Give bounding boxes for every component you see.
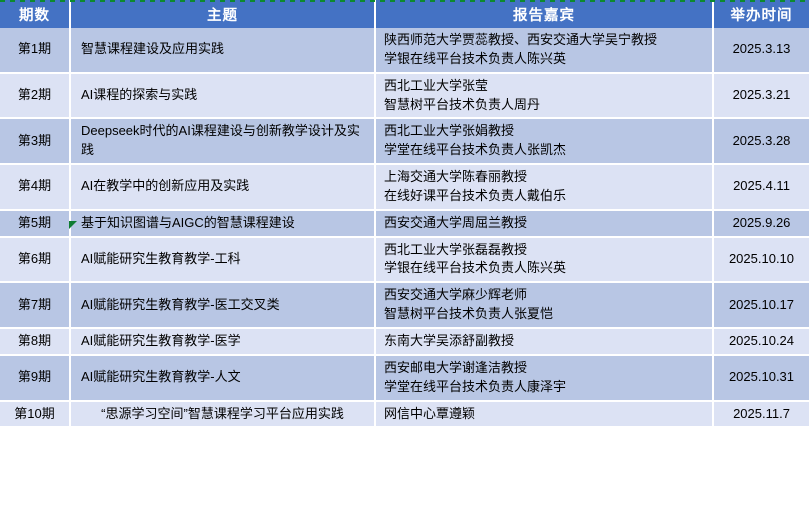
cell-issue[interactable]: 第2期 — [0, 73, 70, 119]
table-row[interactable]: 第3期Deepseek时代的AI课程建设与创新教学设计及实践西北工业大学张娟教授… — [0, 118, 809, 164]
table-row[interactable]: 第8期AI赋能研究生教育教学-医学东南大学吴添舒副教授2025.10.24 — [0, 328, 809, 355]
cell-guest-line: 西安交通大学周屈兰教授 — [384, 214, 706, 233]
cell-topic[interactable]: “思源学习空间”智慧课程学习平台应用实践 — [70, 401, 375, 428]
cell-guest-line: 在线好课平台技术负责人戴伯乐 — [384, 187, 706, 206]
cell-guest-line: 网信中心覃遵颖 — [384, 405, 706, 424]
cell-guest-line: 智慧树平台技术负责人周丹 — [384, 96, 706, 115]
cell-date[interactable]: 2025.3.13 — [713, 28, 809, 73]
table-row[interactable]: 第6期AI赋能研究生教育教学-工科西北工业大学张磊磊教授学银在线平台技术负责人陈… — [0, 237, 809, 283]
cell-date[interactable]: 2025.10.24 — [713, 328, 809, 355]
cell-guest-line: 西安邮电大学谢逢洁教授 — [384, 359, 706, 378]
cell-issue[interactable]: 第3期 — [0, 118, 70, 164]
table-row[interactable]: 第5期基于知识图谱与AIGC的智慧课程建设西安交通大学周屈兰教授2025.9.2… — [0, 210, 809, 237]
table-header: 期数 主题 报告嘉宾 举办时间 — [0, 0, 809, 28]
cell-issue[interactable]: 第1期 — [0, 28, 70, 73]
spreadsheet-canvas: 期数 主题 报告嘉宾 举办时间 第1期智慧课程建设及应用实践陕西师范大学贾蕊教授… — [0, 0, 809, 509]
seminar-schedule-table: 期数 主题 报告嘉宾 举办时间 第1期智慧课程建设及应用实践陕西师范大学贾蕊教授… — [0, 0, 809, 428]
cell-date[interactable]: 2025.3.21 — [713, 73, 809, 119]
table-row[interactable]: 第9期AI赋能研究生教育教学-人文西安邮电大学谢逢洁教授学堂在线平台技术负责人康… — [0, 355, 809, 401]
cell-topic[interactable]: AI课程的探索与实践 — [70, 73, 375, 119]
cell-topic[interactable]: AI赋能研究生教育教学-工科 — [70, 237, 375, 283]
cell-date[interactable]: 2025.3.28 — [713, 118, 809, 164]
cell-guest-line: 西安交通大学麻少辉老师 — [384, 286, 706, 305]
cell-guest[interactable]: 上海交通大学陈春丽教授在线好课平台技术负责人戴伯乐 — [375, 164, 713, 210]
cell-topic[interactable]: AI在教学中的创新应用及实践 — [70, 164, 375, 210]
cell-date[interactable]: 2025.9.26 — [713, 210, 809, 237]
cell-guest[interactable]: 西安交通大学麻少辉老师智慧树平台技术负责人张夏恺 — [375, 282, 713, 328]
cell-topic[interactable]: 智慧课程建设及应用实践 — [70, 28, 375, 73]
cell-topic[interactable]: AI赋能研究生教育教学-医工交叉类 — [70, 282, 375, 328]
column-header-issue[interactable]: 期数 — [0, 0, 70, 28]
cell-topic[interactable]: AI赋能研究生教育教学-医学 — [70, 328, 375, 355]
cell-guest[interactable]: 西北工业大学张莹智慧树平台技术负责人周丹 — [375, 73, 713, 119]
cell-date[interactable]: 2025.10.10 — [713, 237, 809, 283]
cell-issue[interactable]: 第5期 — [0, 210, 70, 237]
cell-guest-line: 智慧树平台技术负责人张夏恺 — [384, 305, 706, 324]
cell-date[interactable]: 2025.10.31 — [713, 355, 809, 401]
column-header-date[interactable]: 举办时间 — [713, 0, 809, 28]
table-row[interactable]: 第2期AI课程的探索与实践西北工业大学张莹智慧树平台技术负责人周丹2025.3.… — [0, 73, 809, 119]
cell-guest[interactable]: 西安交通大学周屈兰教授 — [375, 210, 713, 237]
cell-guest-line: 西北工业大学张莹 — [384, 77, 706, 96]
cell-guest-line: 西北工业大学张娟教授 — [384, 122, 706, 141]
cell-issue[interactable]: 第6期 — [0, 237, 70, 283]
cell-guest-line: 学银在线平台技术负责人陈兴英 — [384, 50, 706, 69]
column-header-guest[interactable]: 报告嘉宾 — [375, 0, 713, 28]
table-header-row: 期数 主题 报告嘉宾 举办时间 — [0, 0, 809, 28]
cell-date[interactable]: 2025.11.7 — [713, 401, 809, 428]
cell-guest[interactable]: 陕西师范大学贾蕊教授、西安交通大学吴宁教授学银在线平台技术负责人陈兴英 — [375, 28, 713, 73]
table-row[interactable]: 第7期AI赋能研究生教育教学-医工交叉类西安交通大学麻少辉老师智慧树平台技术负责… — [0, 282, 809, 328]
column-header-topic[interactable]: 主题 — [70, 0, 375, 28]
cell-topic[interactable]: Deepseek时代的AI课程建设与创新教学设计及实践 — [70, 118, 375, 164]
cell-guest[interactable]: 西北工业大学张娟教授学堂在线平台技术负责人张凯杰 — [375, 118, 713, 164]
cell-guest-line: 陕西师范大学贾蕊教授、西安交通大学吴宁教授 — [384, 31, 706, 50]
cell-guest[interactable]: 西北工业大学张磊磊教授学银在线平台技术负责人陈兴英 — [375, 237, 713, 283]
cell-guest-line: 东南大学吴添舒副教授 — [384, 332, 706, 351]
table-row[interactable]: 第4期AI在教学中的创新应用及实践上海交通大学陈春丽教授在线好课平台技术负责人戴… — [0, 164, 809, 210]
cell-topic[interactable]: AI赋能研究生教育教学-人文 — [70, 355, 375, 401]
table-row[interactable]: 第10期“思源学习空间”智慧课程学习平台应用实践网信中心覃遵颖2025.11.7 — [0, 401, 809, 428]
cell-guest[interactable]: 东南大学吴添舒副教授 — [375, 328, 713, 355]
cell-issue[interactable]: 第8期 — [0, 328, 70, 355]
cell-guest-line: 上海交通大学陈春丽教授 — [384, 168, 706, 187]
table-body: 第1期智慧课程建设及应用实践陕西师范大学贾蕊教授、西安交通大学吴宁教授学银在线平… — [0, 28, 809, 427]
cell-issue[interactable]: 第10期 — [0, 401, 70, 428]
cell-issue[interactable]: 第9期 — [0, 355, 70, 401]
table-row[interactable]: 第1期智慧课程建设及应用实践陕西师范大学贾蕊教授、西安交通大学吴宁教授学银在线平… — [0, 28, 809, 73]
cell-guest[interactable]: 西安邮电大学谢逢洁教授学堂在线平台技术负责人康泽宇 — [375, 355, 713, 401]
cell-date[interactable]: 2025.4.11 — [713, 164, 809, 210]
cell-guest[interactable]: 网信中心覃遵颖 — [375, 401, 713, 428]
cell-issue[interactable]: 第7期 — [0, 282, 70, 328]
cell-topic[interactable]: 基于知识图谱与AIGC的智慧课程建设 — [70, 210, 375, 237]
cell-guest-line: 西北工业大学张磊磊教授 — [384, 241, 706, 260]
cell-guest-line: 学堂在线平台技术负责人康泽宇 — [384, 378, 706, 397]
cell-issue[interactable]: 第4期 — [0, 164, 70, 210]
cell-date[interactable]: 2025.10.17 — [713, 282, 809, 328]
cell-guest-line: 学堂在线平台技术负责人张凯杰 — [384, 141, 706, 160]
cell-guest-line: 学银在线平台技术负责人陈兴英 — [384, 259, 706, 278]
